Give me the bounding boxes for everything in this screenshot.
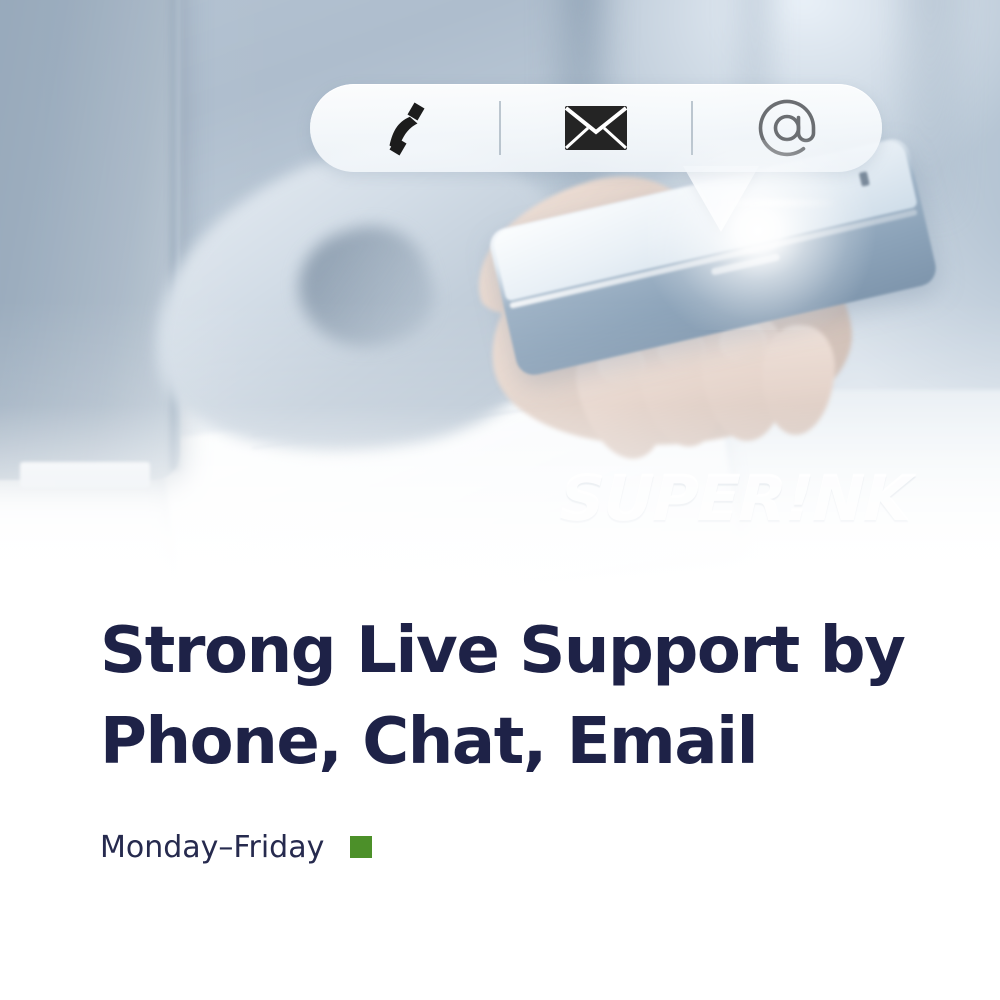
text-block: Strong Live Support by Phone, Chat, Emai… xyxy=(100,606,940,865)
accent-square xyxy=(350,836,372,858)
monitor-back-panel xyxy=(0,0,180,480)
bubble-tail xyxy=(683,166,759,232)
contact-item-online[interactable] xyxy=(693,84,882,172)
page-title: Strong Live Support by Phone, Chat, Emai… xyxy=(100,606,940,788)
contact-item-email[interactable] xyxy=(501,84,690,172)
brand-watermark: SUPER!NK xyxy=(559,462,912,535)
support-banner: SUPER!NK Strong Live Support by Phone, C… xyxy=(0,0,1000,1000)
subtitle-row: Monday–Friday xyxy=(100,830,940,865)
envelope-icon xyxy=(563,103,629,153)
monitor-foot xyxy=(20,462,150,488)
at-sign-icon xyxy=(755,96,819,160)
availability-label: Monday–Friday xyxy=(100,830,324,865)
contact-item-phone[interactable] xyxy=(310,84,499,172)
contact-bar[interactable] xyxy=(310,84,882,172)
hero-photo: SUPER!NK xyxy=(0,0,1000,600)
phone-icon xyxy=(373,96,437,160)
